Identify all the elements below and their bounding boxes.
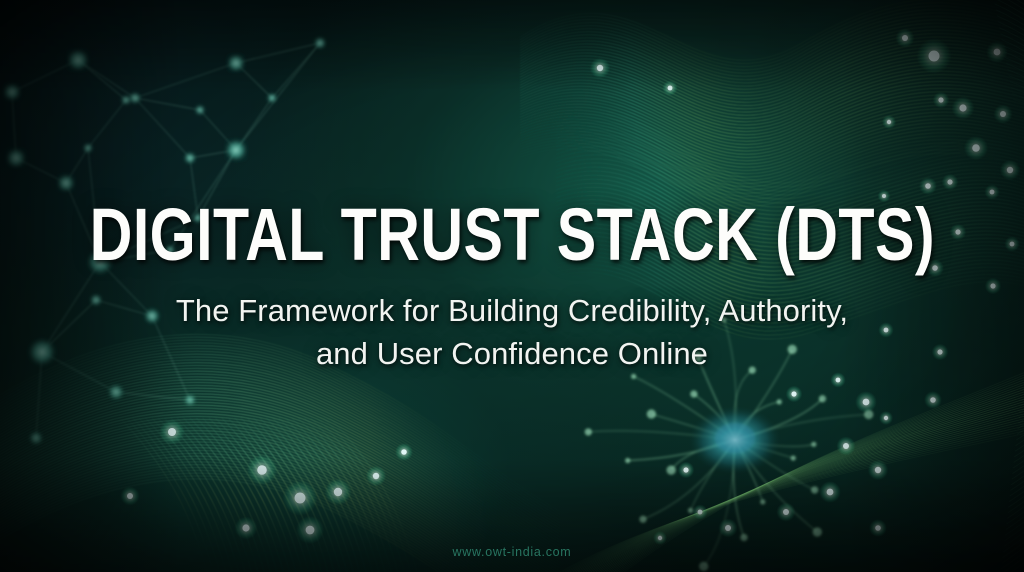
watermark-url: www.owt-india.com — [0, 545, 1024, 559]
page-title: DIGITAL TRUST STACK (DTS) — [89, 197, 934, 276]
page-subtitle-line-1: The Framework for Building Credibility, … — [176, 290, 848, 333]
page-subtitle-line-2: and User Confidence Online — [176, 333, 848, 376]
banner-slide: DIGITAL TRUST STACK (DTS) The Framework … — [0, 0, 1024, 572]
page-subtitle: The Framework for Building Credibility, … — [176, 290, 848, 376]
text-block: DIGITAL TRUST STACK (DTS) The Framework … — [0, 0, 1024, 572]
